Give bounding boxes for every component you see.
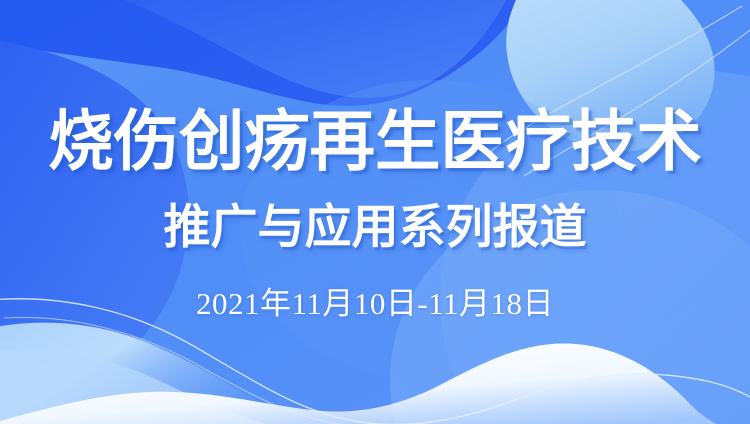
event-banner: 烧伤创疡再生医疗技术 推广与应用系列报道 2021年11月10日-11月18日 — [0, 0, 750, 424]
date-range-label: 2021年11月10日-11月18日 — [0, 285, 750, 323]
banner-text-layer: 烧伤创疡再生医疗技术 推广与应用系列报道 2021年11月10日-11月18日 — [0, 0, 750, 424]
page-subtitle: 推广与应用系列报道 — [0, 199, 750, 255]
page-title: 烧伤创疡再生医疗技术 — [4, 104, 747, 178]
